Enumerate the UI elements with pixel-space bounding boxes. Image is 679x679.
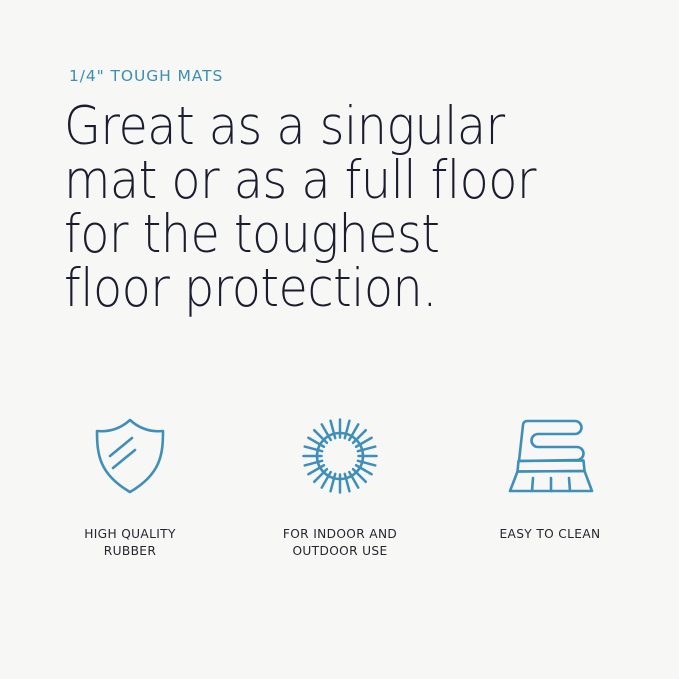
promo-banner: 1/4" TOUGH MATS Great as a singular mat … [0, 0, 679, 679]
feature-item-easy-to-clean: EASY TO CLEAN [448, 408, 652, 543]
eyebrow-label: 1/4" TOUGH MATS [69, 67, 223, 85]
sun-icon [292, 408, 388, 504]
feature-label: EASY TO CLEAN [499, 526, 600, 543]
headline-line-2: mat or as a full floor [64, 154, 568, 208]
shield-icon [91, 408, 169, 504]
feature-item-indoor-outdoor: FOR INDOOR AND OUTDOOR USE [238, 408, 442, 559]
headline-line-1: Great as a singular [64, 100, 568, 154]
feature-item-high-quality-rubber: HIGH QUALITY RUBBER [28, 408, 232, 559]
headline-line-3: for the toughest [64, 208, 568, 262]
feature-label: FOR INDOOR AND OUTDOOR USE [283, 526, 397, 559]
headline-line-4: floor protection. [64, 262, 568, 316]
feature-label: HIGH QUALITY RUBBER [84, 526, 176, 559]
scrub-brush-icon [503, 408, 597, 504]
feature-list: HIGH QUALITY RUBBER [28, 408, 652, 559]
page-title: Great as a singular mat or as a full flo… [64, 100, 568, 316]
